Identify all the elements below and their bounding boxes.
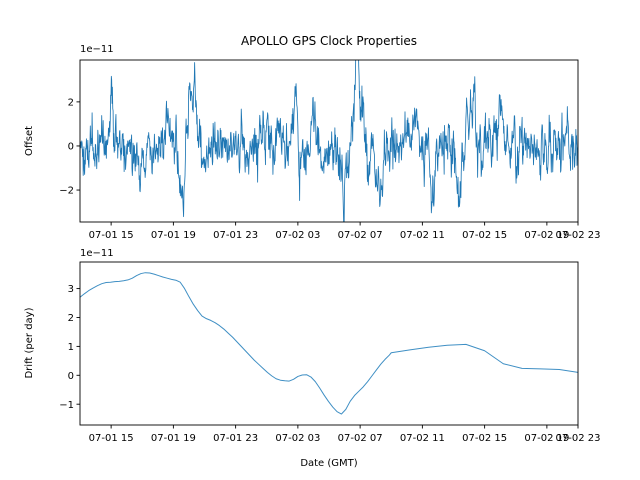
x-axis-label: Date (GMT) — [300, 458, 357, 469]
matplotlib-figure: APOLLO GPS Clock Properties 1e−11 Offset… — [0, 0, 640, 480]
drift-x-tick-label: 07-02 07 — [338, 433, 383, 444]
offset-x-tick-label: 07-01 15 — [89, 230, 134, 241]
page-title: APOLLO GPS Clock Properties — [241, 34, 417, 48]
drift-x-tick-label: 07-01 23 — [213, 433, 258, 444]
drift-y-axis-label: Drift (per day) — [24, 307, 35, 378]
drift-x-tick-label: 07-02 03 — [275, 433, 320, 444]
drift-exponent-label: 1e−11 — [80, 248, 114, 259]
drift-x-tick-label: 07-02 23 — [556, 433, 601, 444]
offset-x-tick-label: 07-01 19 — [151, 230, 196, 241]
drift-x-tick-label: 07-01 19 — [151, 433, 196, 444]
drift-x-tick-label: 07-02 11 — [400, 433, 445, 444]
offset-x-tick-label: 07-02 15 — [462, 230, 507, 241]
drift-x-tick-label: 07-01 15 — [89, 433, 134, 444]
drift-y-tick-label: 3 — [68, 284, 74, 295]
offset-y-tick-label: 2 — [68, 97, 74, 108]
offset-y-tick-label: 0 — [68, 142, 74, 153]
drift-y-tick-label: 1 — [68, 342, 74, 353]
drift-y-tick-label: 2 — [68, 313, 74, 324]
offset-y-axis-label: Offset — [24, 126, 35, 156]
offset-x-tick-label: 07-02 03 — [275, 230, 320, 241]
offset-exponent-label: 1e−11 — [80, 44, 114, 55]
drift-y-tick-label: 0 — [68, 371, 74, 382]
offset-y-tick-label: −2 — [59, 186, 74, 197]
drift-x-tick-label: 07-02 15 — [462, 433, 507, 444]
figure-canvas: APOLLO GPS Clock Properties 1e−11 Offset… — [0, 0, 640, 480]
offset-x-tick-label: 07-01 23 — [213, 230, 258, 241]
offset-x-tick-label: 07-02 07 — [338, 230, 383, 241]
drift-y-tick-label: −1 — [59, 400, 74, 411]
offset-x-tick-label: 07-02 23 — [556, 230, 601, 241]
offset-x-tick-label: 07-02 11 — [400, 230, 445, 241]
